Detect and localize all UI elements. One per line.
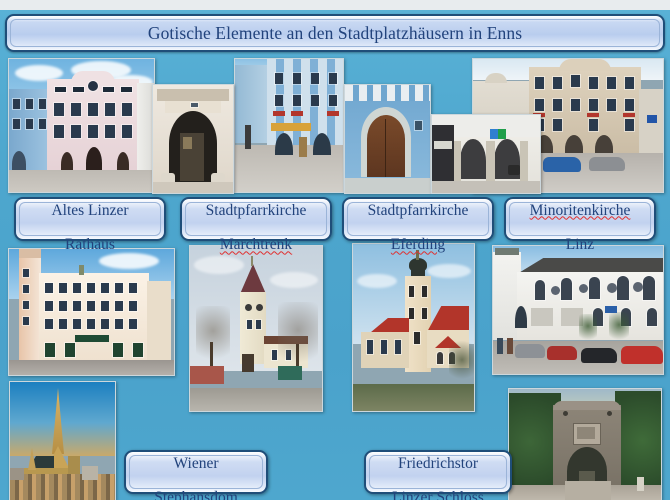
label-stadtpfarrkirche-eferding: Stadtpfarrkirche Eferding: [342, 197, 494, 241]
photo-marchtrenk-stadtpfarrkirche: [189, 245, 323, 412]
photo-eferding-arcade-gothic-arches: [431, 114, 541, 194]
photo-enns-blue-house-arcade: [234, 58, 344, 193]
label-line2: Eferding: [391, 236, 445, 253]
label-stadtpfarrkirche-marchtrenk-text: Stadtpfarrkirche Marchtrenk: [202, 184, 311, 253]
photo-enns-brown-gothic-door: [344, 84, 431, 194]
photo-wiener-stephansdom: [9, 381, 116, 500]
label-line1: Stadtpfarrkirche: [206, 202, 307, 219]
label-minoritenkirche-linz: Minoritenkirche Linz: [504, 197, 656, 241]
label-friedrichstor-linzer-schloss-text: Friedrichstor Linzer Schloss: [388, 437, 488, 500]
label-line2: Linzer Schloss: [392, 489, 484, 500]
label-stadtpfarrkirche-marchtrenk: Stadtpfarrkirche Marchtrenk: [180, 197, 332, 241]
label-line1: Altes Linzer: [51, 202, 128, 219]
photo-enns-gothic-portal-arch: [152, 84, 234, 194]
label-friedrichstor-linzer-schloss: Friedrichstor Linzer Schloss: [364, 450, 512, 494]
slide-title: Gotische Elemente an den Stadtplatzhäuse…: [7, 16, 663, 50]
label-line1: Friedrichstor: [398, 455, 478, 472]
label-altes-linzer-rathaus: Altes Linzer Rathaus: [14, 197, 166, 241]
label-wiener-stephansdom: Wiener Stephansdom: [124, 450, 268, 494]
label-minoritenkirche-linz-text: Minoritenkirche Linz: [526, 184, 635, 253]
photo-linzer-schloss-friedrichstor: [508, 388, 662, 500]
label-line2: Linz: [566, 236, 594, 253]
label-altes-linzer-rathaus-text: Altes Linzer Rathaus: [47, 184, 132, 253]
photo-linz-altes-rathaus: [8, 248, 175, 376]
label-line1: Stadtpfarrkirche: [368, 202, 469, 219]
photo-linz-minoritenkirche: [492, 245, 664, 375]
photo-enns-stadtplatz-rathaus: [8, 58, 155, 193]
label-line1: Minoritenkirche: [530, 202, 631, 219]
slide-title-plaque: Gotische Elemente an den Stadtplatzhäuse…: [5, 14, 665, 52]
photo-eferding-stadtpfarrkirche: [352, 243, 475, 412]
label-wiener-stephansdom-text: Wiener Stephansdom: [150, 437, 242, 500]
label-line2: Marchtrenk: [220, 236, 292, 253]
label-line1: Wiener: [174, 455, 219, 472]
slide-top-edge-strip: [0, 0, 670, 10]
presentation-slide: Gotische Elemente an den Stadtplatzhäuse…: [0, 0, 670, 500]
label-stadtpfarrkirche-eferding-text: Stadtpfarrkirche Eferding: [364, 184, 473, 253]
label-line2: Stephansdom: [154, 489, 238, 500]
label-line2: Rathaus: [65, 236, 115, 253]
